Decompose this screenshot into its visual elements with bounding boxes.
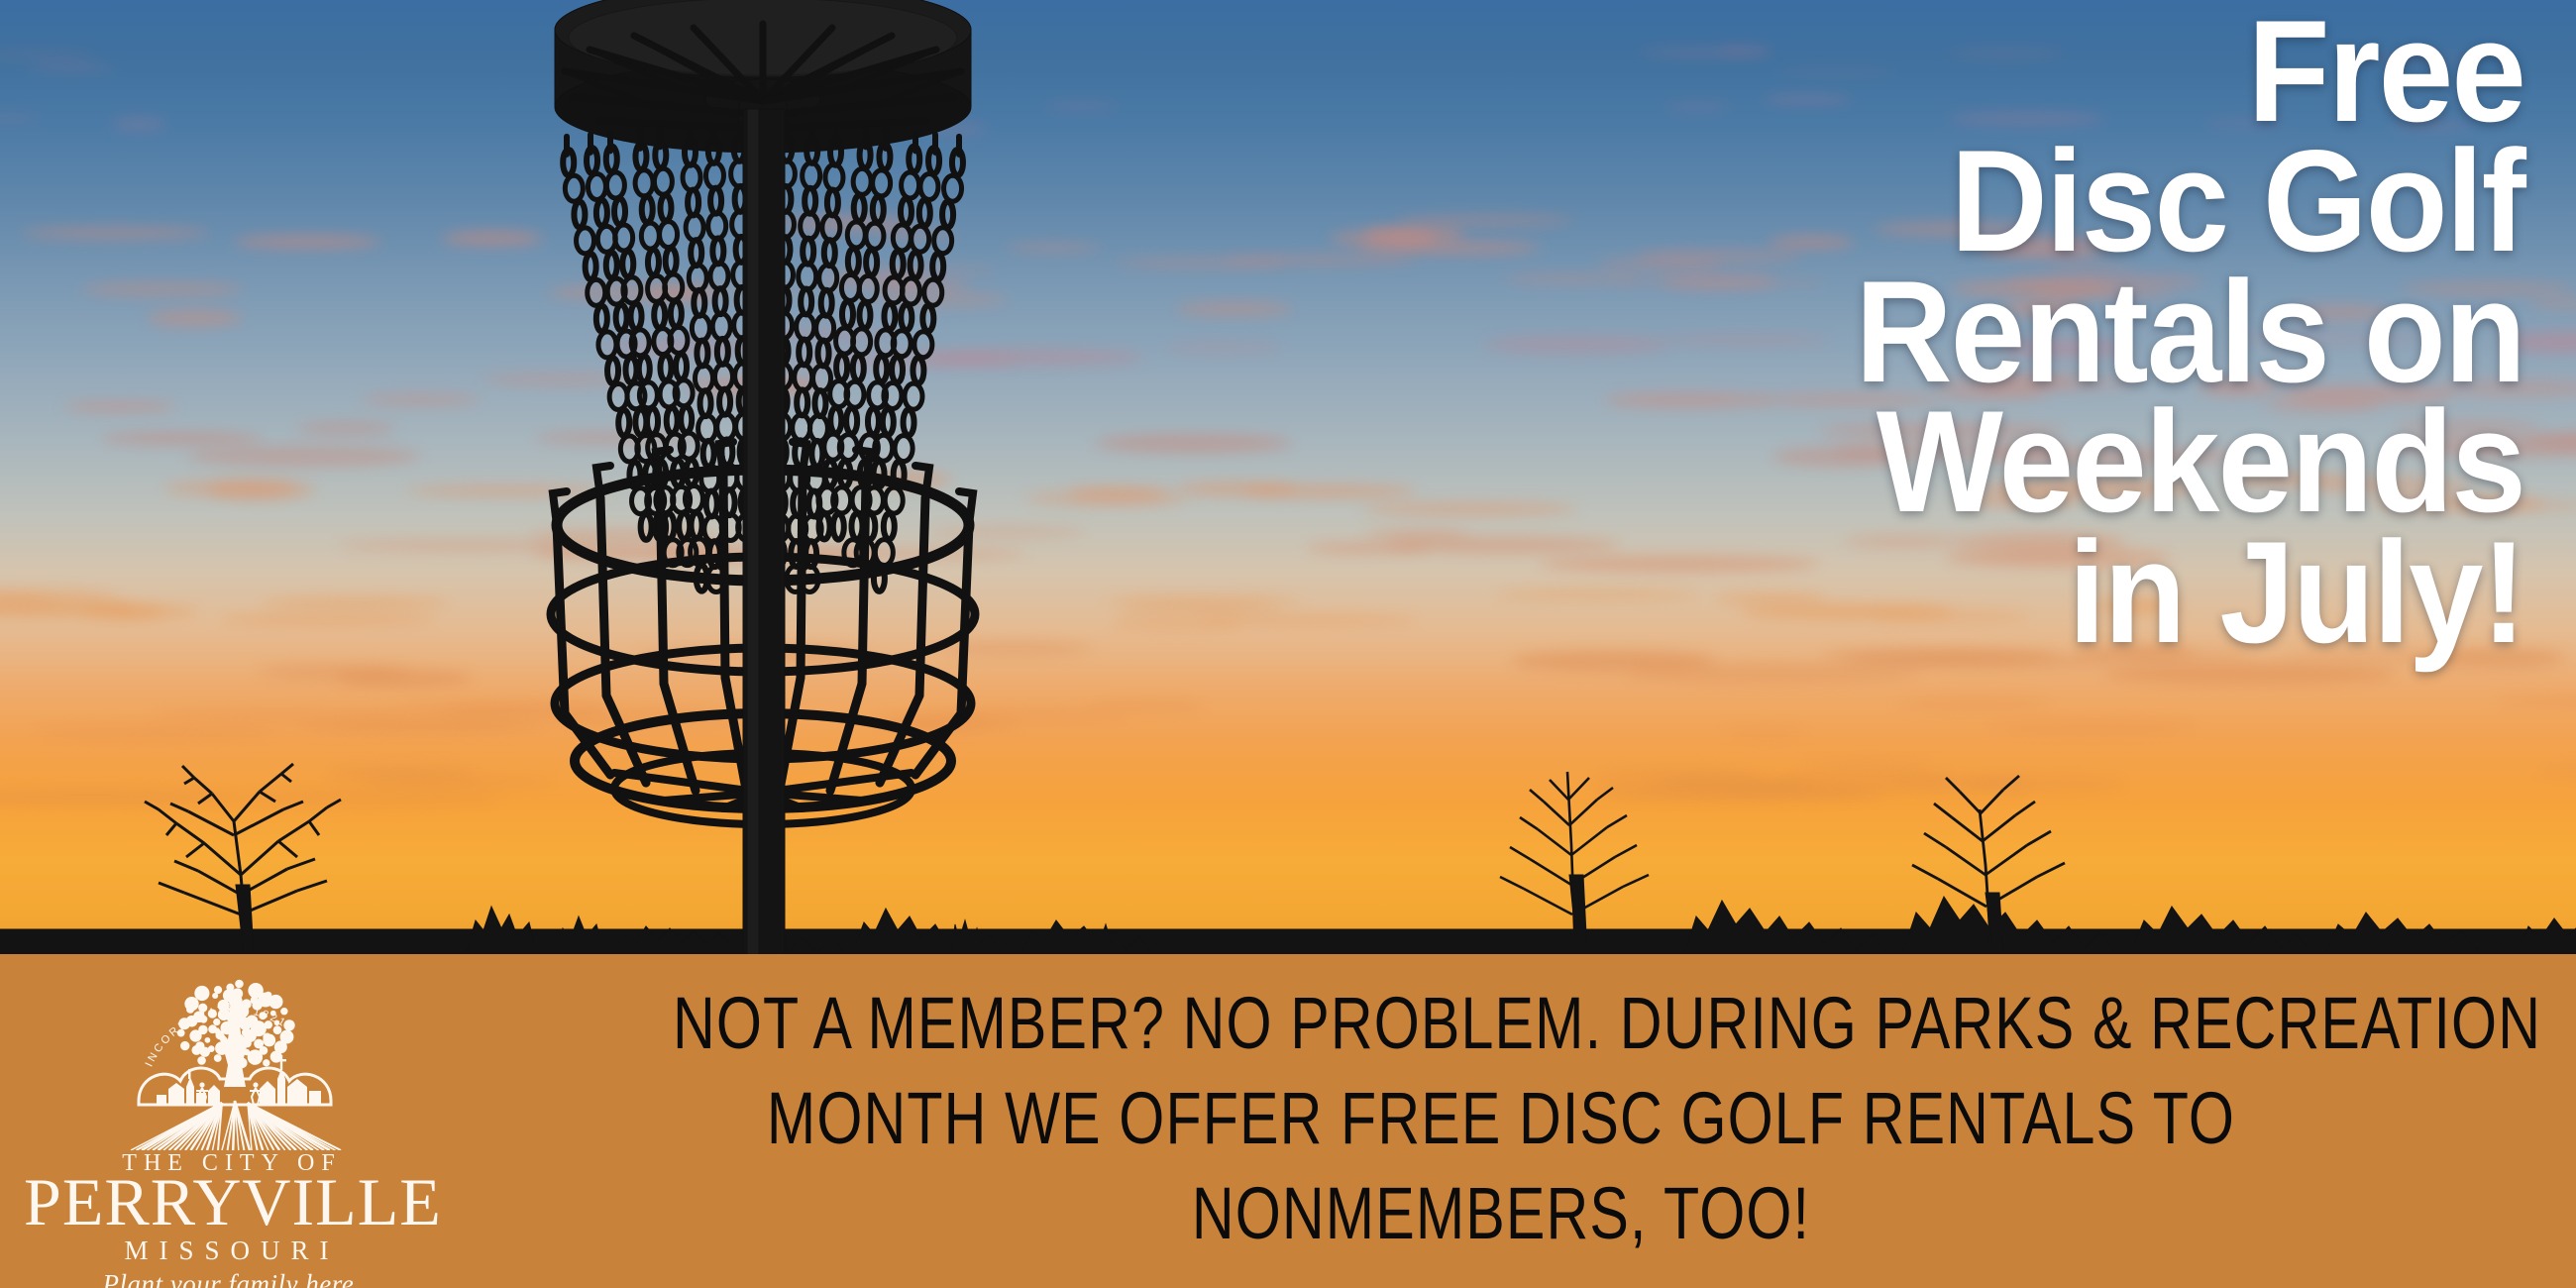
chain-link (912, 226, 929, 252)
canopy-dot (178, 1018, 190, 1029)
chain-link (932, 254, 943, 279)
canopy-dot (214, 1054, 222, 1062)
chain-link (712, 313, 730, 339)
canopy-dot (232, 988, 243, 999)
chain-link (876, 356, 887, 381)
chain-link (904, 409, 914, 435)
chain-link (706, 491, 717, 517)
canopy-dot (283, 1020, 294, 1030)
canopy-dot (198, 1004, 207, 1013)
chain-link (654, 168, 672, 194)
chain-link (859, 302, 870, 328)
cloud-wisp (186, 446, 421, 467)
bottom-info-bar: INCORPORATED 1821 (0, 954, 2576, 1288)
chain-link (842, 301, 853, 327)
chain-link (922, 305, 933, 331)
chain-link (700, 390, 711, 416)
chain-link (924, 279, 942, 305)
chain-link (827, 189, 838, 215)
canopy-dot (193, 1011, 205, 1022)
chain-link (698, 415, 716, 441)
canopy-dot (242, 999, 252, 1009)
chain-link (895, 436, 912, 462)
chain-link (689, 265, 706, 290)
cloud-wisp (148, 310, 242, 325)
chain-link (803, 239, 813, 265)
chain-link (873, 197, 884, 223)
logo-tagline: Plant your family here. (24, 1269, 440, 1288)
chain-link (642, 196, 653, 222)
chain-link (893, 251, 904, 276)
chain-link (841, 275, 859, 301)
headline: FreeDisc GolfRentals onWeekendsin July! (1142, 6, 2524, 657)
chain-link (797, 389, 807, 415)
chain-link (625, 357, 636, 382)
chain-link (795, 365, 812, 390)
chain-link (606, 172, 624, 198)
canopy-dot (208, 1009, 217, 1018)
chain-link (694, 290, 704, 316)
chain-link (836, 355, 847, 380)
chain-link (901, 198, 912, 224)
chain-link (819, 265, 837, 290)
chain-link (805, 188, 815, 214)
chain-link (660, 195, 671, 221)
chain-link (822, 215, 840, 241)
headline-line-1: Free (1142, 6, 2524, 136)
chain-link (635, 170, 653, 196)
chain-link (853, 168, 871, 194)
chain-link (686, 215, 703, 241)
cloud-wisp (82, 604, 161, 620)
chain-link (717, 414, 735, 440)
canopy-dot (265, 1020, 272, 1028)
canopy-dot (191, 1045, 201, 1055)
chain-link (565, 175, 583, 201)
chain-link (667, 407, 678, 433)
sunset-photo: FreeDisc GolfRentals onWeekendsin July! (0, 0, 2576, 954)
chain-link (641, 514, 652, 540)
chain-link (622, 251, 633, 276)
chain-link (814, 390, 825, 416)
chain-link (588, 279, 605, 305)
chain-link (641, 223, 659, 249)
chain-link (574, 202, 585, 228)
chain-link (719, 389, 730, 415)
treeline-silhouette (0, 726, 2576, 954)
chain-link (821, 290, 832, 316)
chain-link (616, 305, 627, 331)
canopy-dot (197, 1056, 206, 1065)
canopy-dot (205, 1037, 211, 1043)
cloud-wisp (234, 235, 381, 249)
chain-link (714, 364, 732, 389)
cloud-wisp (29, 62, 115, 72)
chain-link (866, 250, 877, 275)
chain-link (911, 253, 921, 278)
chain-link (681, 406, 692, 432)
chain-link (912, 358, 923, 383)
chain-link (811, 441, 822, 467)
chain-link (885, 487, 903, 513)
chain-link (671, 301, 682, 327)
chain-link (710, 264, 728, 289)
chain-link (631, 303, 642, 329)
chain-link (710, 188, 721, 214)
chain-link (902, 172, 919, 198)
chain-link (577, 228, 594, 254)
bar-body-text: NOT A MEMBER? NO PROBLEM. DURING PARKS &… (673, 976, 2329, 1262)
chain-link (708, 213, 726, 239)
chain-link (883, 409, 894, 435)
chain-link (676, 354, 687, 379)
chain-link (697, 340, 707, 366)
chain-link (803, 162, 820, 188)
chain-link (816, 315, 834, 341)
chain-link (799, 264, 816, 289)
canopy-dot (180, 1041, 189, 1050)
canopy-dot (259, 1012, 267, 1020)
cloud-wisp (21, 227, 209, 239)
canopy-dot (189, 1029, 201, 1041)
canopy-dot (274, 1020, 280, 1025)
canopy-dot (268, 995, 282, 1009)
chain-link (942, 201, 953, 227)
chain-link (715, 288, 726, 314)
bar-line-3: NONMEMBERS, TOO! (673, 1166, 2329, 1261)
canopy-dot (184, 997, 198, 1011)
canopy-dot (235, 980, 244, 989)
chain-link (598, 332, 616, 358)
bar-line-2: MONTH WE OFFER FREE DISC GOLF RENTALS TO (673, 1071, 2329, 1166)
canopy-dot (273, 1025, 282, 1034)
chain-link (683, 164, 700, 190)
canopy-dot (270, 1011, 276, 1017)
chain-link (801, 213, 818, 239)
chain-link (893, 225, 911, 251)
chain-link (884, 303, 895, 329)
canopy-dot (194, 986, 209, 1001)
chain-link (618, 410, 629, 436)
headline-line-3: Rentals on (1142, 267, 2524, 396)
cloud-wisp (80, 282, 244, 296)
chain-link (873, 170, 891, 196)
chain-link (853, 356, 864, 381)
chain-link (639, 356, 650, 381)
cloud-wisp (1896, 696, 2052, 710)
canopy-dot (248, 983, 263, 998)
chain-link (818, 340, 829, 366)
canopy-dot (263, 1059, 269, 1066)
chain-link (854, 195, 865, 221)
chain-link (695, 366, 712, 391)
chain-link (717, 339, 728, 365)
chain-link (859, 276, 877, 302)
logo-city-name: PERRYVILLE (24, 1168, 440, 1235)
chain-link (868, 408, 879, 434)
chain-link (666, 248, 677, 273)
chain-link (679, 513, 690, 539)
headline-line-2: Disc Golf (1142, 136, 2524, 266)
chain-link (596, 200, 607, 226)
chain-link (808, 491, 819, 517)
chain-link (847, 222, 865, 248)
chain-link (607, 358, 618, 383)
chain-link (833, 514, 844, 540)
headline-line-5: in July! (1142, 527, 2524, 657)
chain-link (848, 249, 859, 274)
perryville-logo[interactable]: INCORPORATED 1821 (24, 966, 440, 1283)
chain-link (691, 240, 701, 266)
chain-link (606, 253, 617, 278)
chain-link (825, 164, 843, 190)
canopy-dot (226, 984, 234, 992)
chain-link (914, 332, 932, 358)
chain-link (648, 250, 659, 275)
chain-link (884, 513, 895, 539)
chain-link (609, 383, 627, 409)
canopy-dot (280, 1008, 287, 1015)
chain-link (905, 383, 922, 409)
cloud-wisp (63, 402, 176, 411)
chain-link (846, 408, 857, 434)
chain-link (635, 409, 646, 435)
bar-line-1: NOT A MEMBER? NO PROBLEM. DURING PARKS &… (673, 976, 2329, 1071)
headline-line-4: Weekends (1142, 396, 2524, 526)
city-tree-mark-icon: INCORPORATED 1821 (111, 970, 359, 1150)
chain-link (919, 200, 930, 226)
chain-link (692, 315, 709, 341)
canopy-dot (214, 986, 222, 994)
chain-link (866, 223, 884, 249)
chain-link (797, 314, 814, 340)
chain-link (660, 222, 678, 248)
chain-link (824, 240, 835, 266)
chain-link (944, 175, 962, 201)
logo-state: MISSOURI (24, 1235, 440, 1266)
chain-link (654, 302, 665, 328)
chain-link (813, 366, 831, 391)
canopy-dot (177, 1029, 185, 1037)
chain-link (892, 357, 903, 382)
canopy-dot (248, 1049, 263, 1064)
chain-link (586, 254, 596, 279)
chain-link (588, 174, 605, 200)
chain-link (830, 407, 841, 433)
chain-link (712, 238, 723, 264)
chain-link (801, 289, 811, 315)
chain-link (688, 189, 698, 215)
chain-link (799, 339, 809, 365)
chain-link (660, 355, 671, 380)
chain-link (920, 173, 938, 199)
disc-golf-basket-icon (416, 0, 1110, 954)
chain-link (705, 162, 723, 188)
promo-banner: FreeDisc GolfRentals onWeekendsin July! … (0, 0, 2576, 1288)
canopy-dot (213, 1019, 220, 1025)
chain-link (596, 306, 607, 332)
chain-link (934, 228, 952, 254)
chain-link (614, 198, 625, 224)
chain-link (627, 383, 645, 409)
chain-link (901, 304, 912, 330)
canopy-dot (263, 1034, 275, 1047)
chain-link (703, 441, 714, 467)
